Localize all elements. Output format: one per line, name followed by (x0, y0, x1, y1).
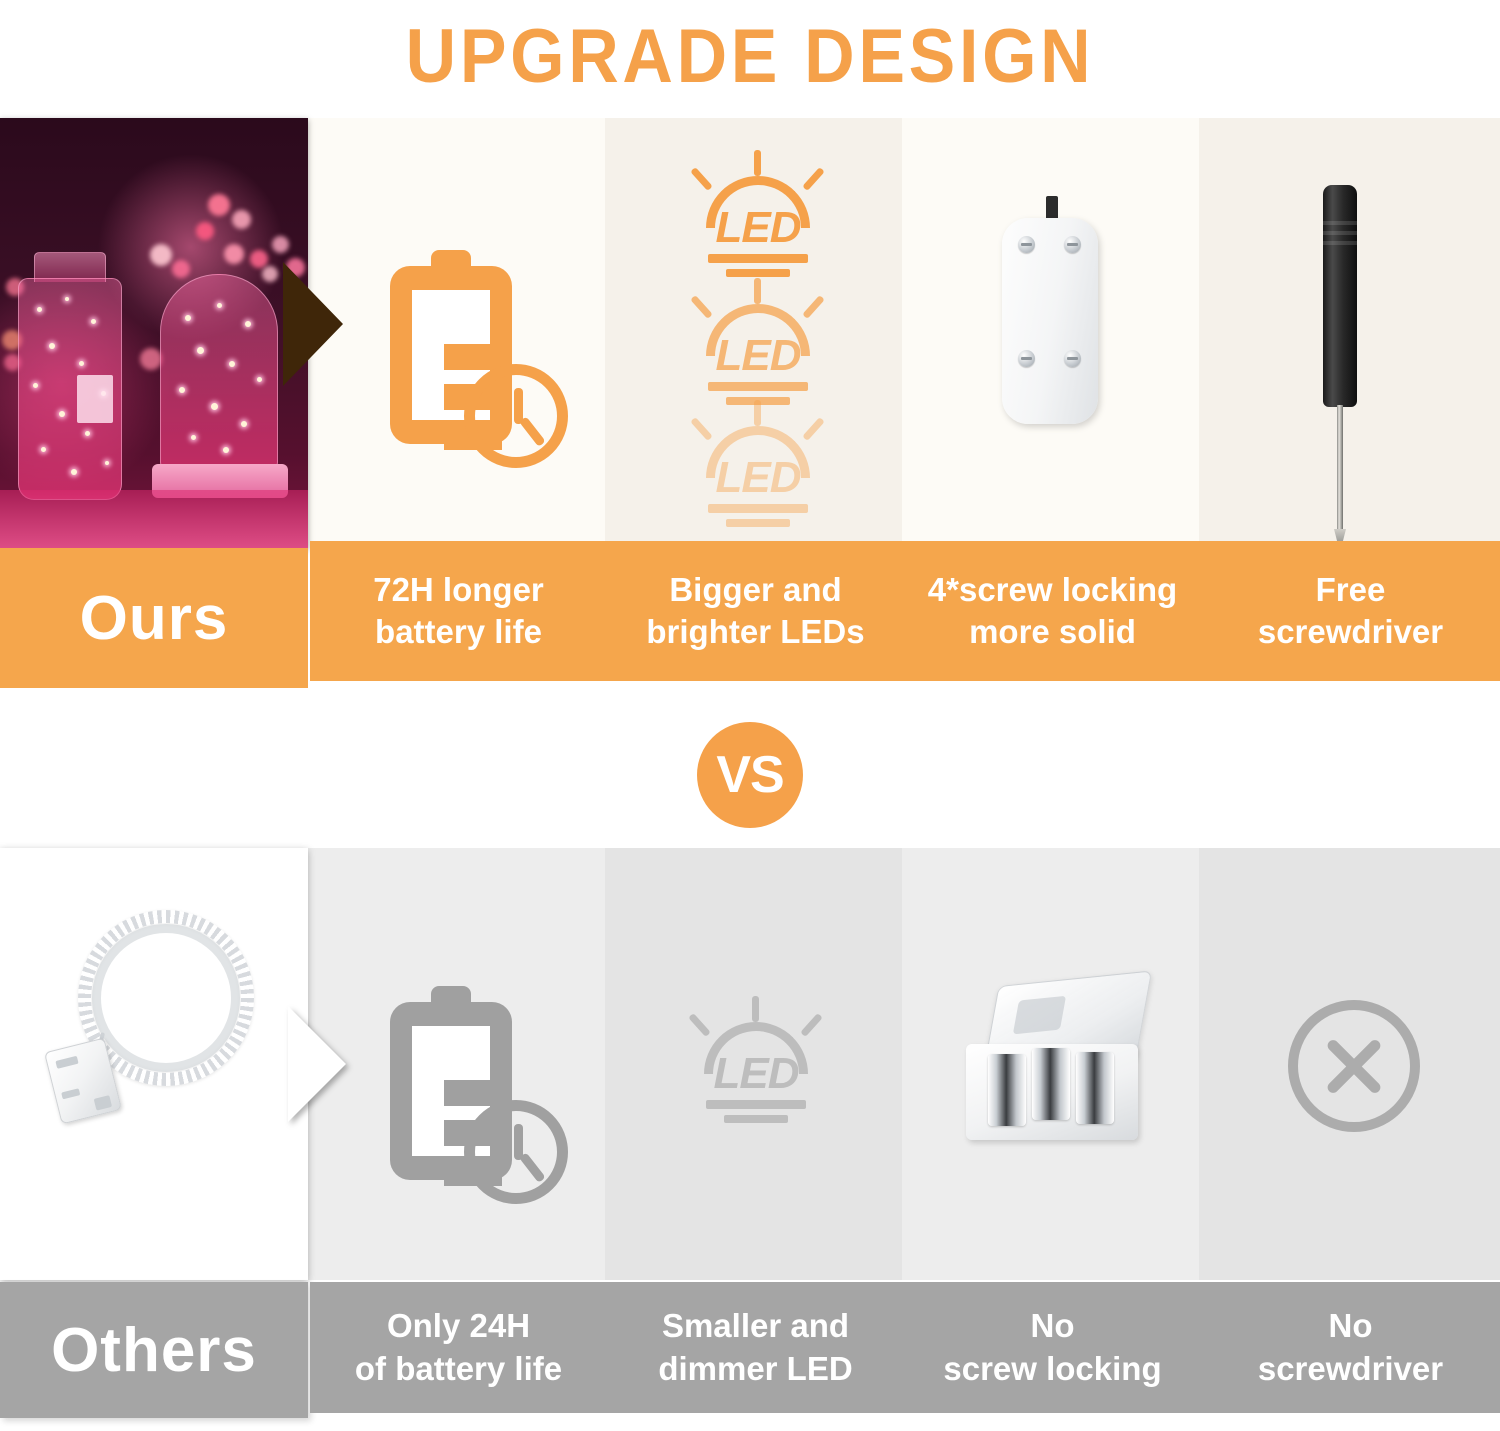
ours-arrow-icon (283, 262, 343, 386)
ours-product-photo (0, 118, 308, 548)
open-battery-box-icon (958, 978, 1146, 1144)
page-title: UPGRADE DESIGN (60, 0, 1440, 112)
others-product-photo (0, 848, 308, 1280)
battery-clock-icon (390, 984, 570, 1208)
jar-right (160, 274, 278, 470)
vs-badge: VS (697, 722, 803, 828)
others-brand-label: Others (51, 1315, 257, 1386)
sealed-battery-pack-icon (1002, 196, 1102, 432)
ours-feature-label-screwdriver: Free screwdriver (1201, 541, 1500, 681)
led-label: LED (688, 1052, 824, 1096)
ours-brand-label: Ours (80, 583, 229, 654)
triple-led-bulb-icon-1: LED (678, 150, 838, 286)
others-brand-tile: Others (0, 1282, 308, 1418)
x-circle-icon (1288, 1000, 1420, 1132)
others-feature-label-led: Smaller and dimmer LED (607, 1282, 904, 1413)
jar-left (18, 278, 122, 500)
others-feature-label-screws: No screw locking (904, 1282, 1201, 1413)
battery-clock-icon (390, 248, 570, 472)
vs-label: VS (716, 745, 783, 805)
others-feature-label-screwdriver: No screwdriver (1201, 1282, 1500, 1413)
ours-feature-label-battery: 72H longer battery life (310, 541, 607, 681)
led-label: LED (690, 334, 826, 378)
triple-led-bulb-icon-3: LED (678, 400, 838, 536)
triple-led-bulb-icon-2: LED (678, 278, 838, 414)
ours-feature-label-led: Bigger and brighter LEDs (607, 541, 904, 681)
screwdriver-icon (1323, 185, 1359, 551)
others-feature-label-battery: Only 24H of battery life (310, 1282, 607, 1413)
ours-brand-tile: Ours (0, 548, 308, 688)
others-arrow-icon (288, 1006, 346, 1122)
single-led-bulb-icon: LED (676, 996, 836, 1132)
led-label: LED (690, 206, 826, 250)
led-label: LED (690, 456, 826, 500)
ours-feature-label-screws: 4*screw locking more solid (904, 541, 1201, 681)
